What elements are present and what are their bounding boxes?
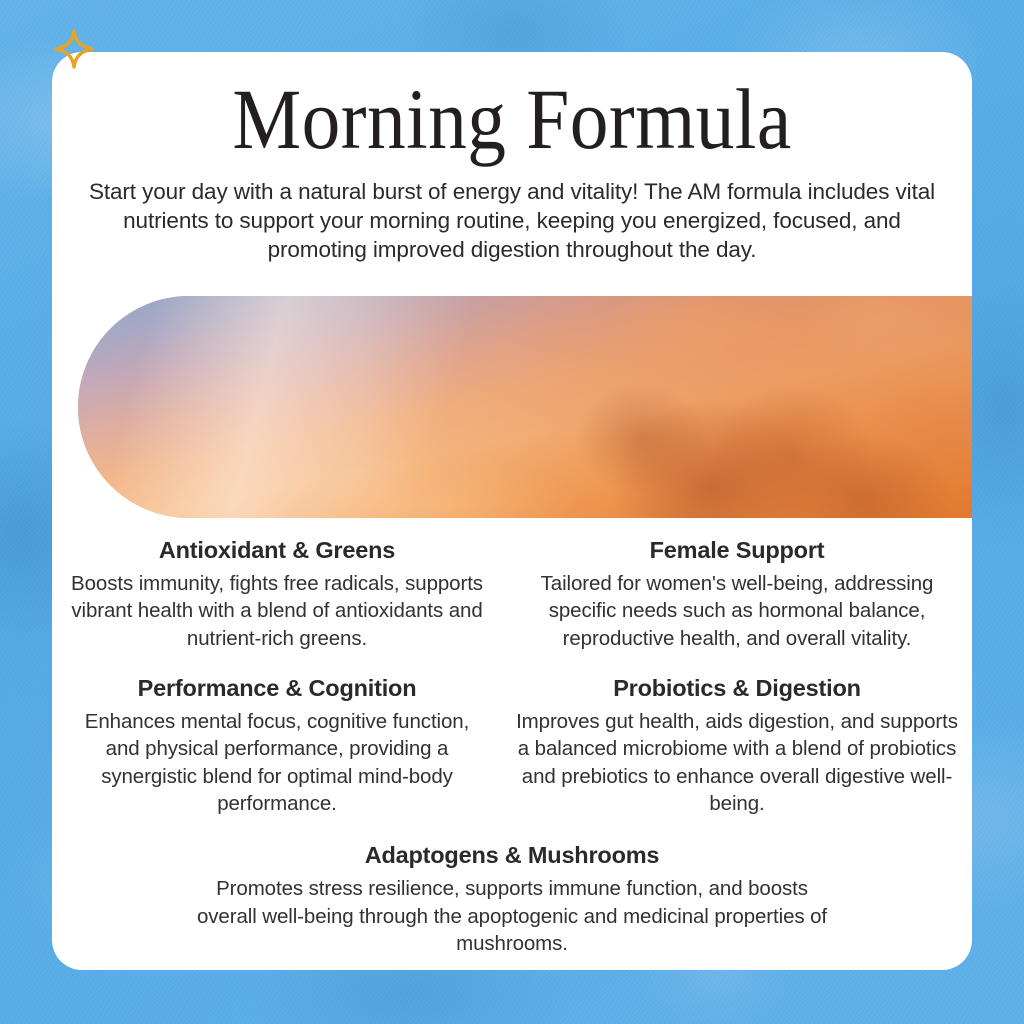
feature-grid: Antioxidant & Greens Boosts immunity, fi… xyxy=(52,536,972,957)
feature-title: Performance & Cognition xyxy=(66,674,488,702)
feature-item-female-support: Female Support Tailored for women's well… xyxy=(502,536,972,652)
feature-title: Antioxidant & Greens xyxy=(66,536,488,564)
hero-image xyxy=(78,296,972,518)
page-subtitle: Start your day with a natural burst of e… xyxy=(72,178,952,264)
feature-body: Boosts immunity, fights free radicals, s… xyxy=(66,570,488,652)
feature-row-2: Performance & Cognition Enhances mental … xyxy=(52,674,972,817)
hero-image-band xyxy=(78,296,972,518)
page-title: Morning Formula xyxy=(98,52,926,162)
feature-title: Probiotics & Digestion xyxy=(516,674,958,702)
feature-title: Adaptogens & Mushrooms xyxy=(52,841,972,869)
feature-body: Tailored for women's well-being, address… xyxy=(516,570,958,652)
feature-body: Improves gut health, aids digestion, and… xyxy=(516,708,958,817)
feature-item-performance-cognition: Performance & Cognition Enhances mental … xyxy=(52,674,502,817)
feature-item-probiotics-digestion: Probiotics & Digestion Improves gut heal… xyxy=(502,674,972,817)
poster-canvas: Morning Formula Start your day with a na… xyxy=(0,0,1024,1024)
feature-item-adaptogens-mushrooms: Adaptogens & Mushrooms Promotes stress r… xyxy=(52,841,972,957)
feature-body: Promotes stress resilience, supports imm… xyxy=(192,875,832,957)
feature-row-1: Antioxidant & Greens Boosts immunity, fi… xyxy=(52,536,972,652)
sparkle-icon xyxy=(52,28,96,72)
content-card: Morning Formula Start your day with a na… xyxy=(52,52,972,970)
feature-body: Enhances mental focus, cognitive functio… xyxy=(66,708,488,817)
feature-title: Female Support xyxy=(516,536,958,564)
feature-item-antioxidant-greens: Antioxidant & Greens Boosts immunity, fi… xyxy=(52,536,502,652)
sunset-sky-graphic xyxy=(78,296,972,518)
